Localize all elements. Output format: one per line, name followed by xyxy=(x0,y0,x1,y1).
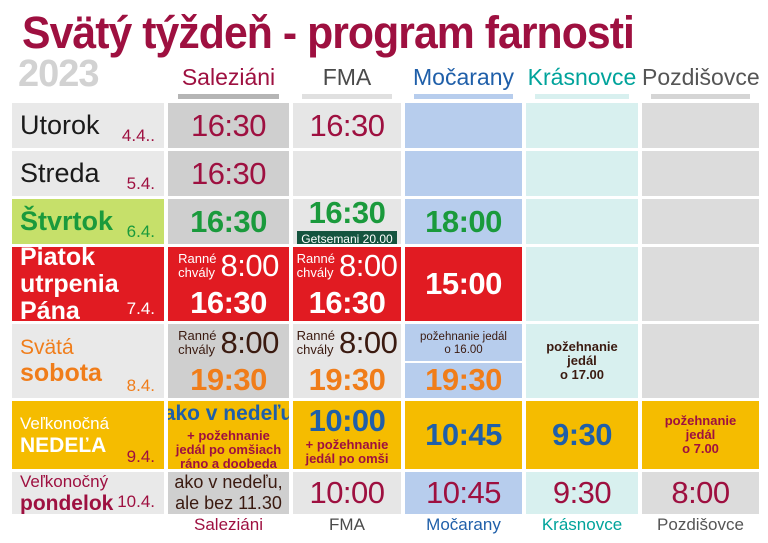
time-prefix-line: Ranné xyxy=(297,252,335,266)
cell-nedela-krasnovce: 9:30 xyxy=(526,401,638,469)
cell-sobota-pozdisovce xyxy=(642,324,759,398)
day-date: 9.4. xyxy=(127,448,155,465)
column-header-mocarany: Močarany xyxy=(405,64,522,94)
cell-stvrtok-saleziani: 16:30 xyxy=(168,199,289,244)
time-prefix-line: Ranné xyxy=(178,329,216,343)
time-secondary: 19:30 xyxy=(425,363,502,397)
note-line: ráno a doobeda xyxy=(180,457,277,469)
cell-pondelok-pozdisovce: 8:00 xyxy=(642,472,759,514)
time-prefix-label: Rannéchvály xyxy=(178,329,216,356)
day-label-cell-utorok: Utorok4.4.. xyxy=(12,103,164,148)
note-line: jedál xyxy=(686,428,716,442)
note-line: ale bez 11.30 xyxy=(175,493,282,514)
cell-streda-krasnovce xyxy=(526,151,638,196)
cell-stvrtok-mocarany: 18:00 xyxy=(405,199,522,244)
cell-utorok-krasnovce xyxy=(526,103,638,148)
cell-pondelok-krasnovce: 9:30 xyxy=(526,472,638,514)
note-line: požehnanie xyxy=(546,340,618,354)
day-name-line: utrpenia xyxy=(20,271,156,298)
column-footer-mocarany: Močarany xyxy=(405,514,522,538)
column-header-label: Krásnovce xyxy=(528,64,637,90)
cell-pondelok-fma: 10:00 xyxy=(293,472,401,514)
cell-note: ako v nedeľu,ale bez 11.30 xyxy=(174,472,282,514)
column-color-swatch xyxy=(651,94,749,99)
time-primary: 8:00 xyxy=(339,326,397,360)
note-line: o 16.00 xyxy=(444,344,482,357)
time-primary: 10:00 xyxy=(309,404,386,438)
time-primary: 16:30 xyxy=(309,109,384,143)
cell-stvrtok-pozdisovce xyxy=(642,199,759,244)
time-prefix-line: chvály xyxy=(178,343,215,357)
day-label-cell-nedela: VeľkonočnáNEDEĽA9.4. xyxy=(12,401,164,469)
day-label-cell-sobota: Svätásobota8.4. xyxy=(12,324,164,398)
note-line: + požehnanie xyxy=(187,429,270,443)
cell-note: + požehnaniejedál po omšiachráno a doobe… xyxy=(176,429,281,469)
time-primary: 16:30 xyxy=(190,205,267,239)
column-footer-saleziani: Saleziáni xyxy=(168,514,289,538)
cell-utorok-mocarany xyxy=(405,103,522,148)
time-primary-line: Rannéchvály8:00 xyxy=(293,326,401,360)
note-line: jedál xyxy=(567,354,597,368)
day-label-cell-streda: Streda5.4. xyxy=(12,151,164,196)
time-secondary: 16:30 xyxy=(190,286,267,320)
time-secondary: 19:30 xyxy=(190,363,267,397)
time-prefix-line: Ranné xyxy=(178,252,216,266)
column-header-saleziani: Saleziáni xyxy=(168,64,289,94)
time-primary: 8:00 xyxy=(671,476,729,510)
time-primary: 18:00 xyxy=(425,205,502,239)
cell-piatok-fma: Rannéchvály8:0016:30 xyxy=(293,247,401,321)
time-primary: 16:30 xyxy=(309,199,386,230)
day-name-line: Veľkonočný xyxy=(20,472,156,492)
cell-streda-fma xyxy=(293,151,401,196)
cell-nedela-fma: 10:00+ požehnaniejedál po omši xyxy=(293,401,401,469)
column-color-swatch xyxy=(535,94,629,99)
column-header-pozdisovce: Pozdišovce xyxy=(642,64,759,94)
time-primary-line: Rannéchvály8:00 xyxy=(168,326,289,360)
cell-piatok-pozdisovce xyxy=(642,247,759,321)
day-label-cell-pondelok: Veľkonočnýpondelok10.4. xyxy=(12,472,164,514)
column-header-label: Močarany xyxy=(413,64,514,90)
time-prefix-label: Rannéchvály xyxy=(297,252,335,279)
time-prefix-line: chvály xyxy=(297,343,334,357)
note-line: požehnanie xyxy=(665,414,737,428)
cell-streda-pozdisovce xyxy=(642,151,759,196)
time-primary: 10:45 xyxy=(425,418,502,452)
cell-stvrtok-fma: 16:30Getsemani 20.00 xyxy=(293,199,401,244)
time-primary: 10:00 xyxy=(309,476,384,510)
column-footer-fma: FMA xyxy=(293,514,401,538)
cell-note-block: požehnanie jedálo 16.00 xyxy=(405,324,522,361)
time-secondary: 19:30 xyxy=(309,363,386,397)
time-prefix-line: chvály xyxy=(178,266,215,280)
day-label-cell-piatok: PiatokutrpeniaPána7.4. xyxy=(12,247,164,321)
column-header-label: Pozdišovce xyxy=(642,64,760,90)
cell-piatok-mocarany: 15:00 xyxy=(405,247,522,321)
page-title: Svätý týždeň - program farnosti xyxy=(22,8,634,58)
note-line: o 17.00 xyxy=(560,368,604,382)
cell-note: požehnaniejedálo 7.00 xyxy=(665,414,737,456)
time-primary: 8:00 xyxy=(220,326,278,360)
time-prefix-line: chvály xyxy=(297,266,334,280)
column-footer-pozdisovce: Pozdišovce xyxy=(642,514,759,538)
day-date: 5.4. xyxy=(127,175,155,192)
cell-nedela-mocarany: 10:45 xyxy=(405,401,522,469)
cell-sobota-fma: Rannéchvály8:0019:30 xyxy=(293,324,401,398)
time-primary: ako v nedeľu xyxy=(168,401,289,429)
cell-sobota-saleziani: Rannéchvály8:0019:30 xyxy=(168,324,289,398)
column-color-swatch xyxy=(302,94,393,99)
time-primary-line: Rannéchvály8:00 xyxy=(168,249,289,283)
cell-pondelok-saleziani: ako v nedeľu,ale bez 11.30 xyxy=(168,472,289,514)
day-name-line: Piatok xyxy=(20,247,156,271)
note-line: jedál po omšiach xyxy=(176,443,281,457)
time-primary: 16:30 xyxy=(191,109,266,143)
holy-week-schedule-poster: Svätý týždeň - program farnosti 2023 Sal… xyxy=(0,0,768,543)
note-line: + požehnanie xyxy=(306,438,389,452)
day-date: 6.4. xyxy=(127,223,155,240)
column-header-label: Saleziáni xyxy=(182,64,275,90)
note-line: o 7.00 xyxy=(682,442,719,456)
getsemani-badge: Getsemani 20.00 xyxy=(297,231,396,244)
time-prefix-label: Rannéchvály xyxy=(297,329,335,356)
time-primary: 15:00 xyxy=(425,267,502,301)
time-primary: 9:30 xyxy=(553,476,611,510)
time-primary: 9:30 xyxy=(552,418,612,452)
day-label-cell-stvrtok: Štvrtok6.4. xyxy=(12,199,164,244)
cell-sobota-mocarany: požehnanie jedálo 16.0019:30 xyxy=(405,324,522,398)
time-secondary: 16:30 xyxy=(309,286,386,320)
column-color-swatch xyxy=(414,94,512,99)
day-date: 7.4. xyxy=(127,300,155,317)
time-primary: 16:30 xyxy=(191,157,266,191)
cell-sobota-krasnovce: požehnaniejedálo 17.00 xyxy=(526,324,638,398)
cell-stvrtok-krasnovce xyxy=(526,199,638,244)
year-label: 2023 xyxy=(18,54,99,94)
cell-piatok-saleziani: Rannéchvály8:0016:30 xyxy=(168,247,289,321)
day-name-line: Veľkonočná xyxy=(20,414,156,434)
column-footer-krasnovce: Krásnovce xyxy=(526,514,638,538)
note-line: požehnanie jedál xyxy=(420,331,507,344)
column-header-krasnovce: Krásnovce xyxy=(526,64,638,94)
time-primary: 10:45 xyxy=(426,476,501,510)
time-primary: 8:00 xyxy=(339,249,397,283)
cell-nedela-saleziani: ako v nedeľu+ požehnaniejedál po omšiach… xyxy=(168,401,289,469)
note-line: ako v nedeľu, xyxy=(174,472,282,493)
column-color-swatch xyxy=(178,94,280,99)
time-primary: 8:00 xyxy=(220,249,278,283)
time-prefix-line: Ranné xyxy=(297,329,335,343)
column-header-fma: FMA xyxy=(293,64,401,94)
cell-streda-saleziani: 16:30 xyxy=(168,151,289,196)
day-date: 10.4. xyxy=(117,493,155,510)
cell-time-block: 19:30 xyxy=(405,363,522,398)
day-date: 4.4.. xyxy=(122,127,155,144)
column-header-label: FMA xyxy=(323,64,372,90)
cell-utorok-pozdisovce xyxy=(642,103,759,148)
cell-utorok-fma: 16:30 xyxy=(293,103,401,148)
cell-nedela-pozdisovce: požehnaniejedálo 7.00 xyxy=(642,401,759,469)
cell-note: + požehnaniejedál po omši xyxy=(305,438,388,466)
day-date: 8.4. xyxy=(127,377,155,394)
cell-utorok-saleziani: 16:30 xyxy=(168,103,289,148)
cell-streda-mocarany xyxy=(405,151,522,196)
time-prefix-label: Rannéchvály xyxy=(178,252,216,279)
cell-piatok-krasnovce xyxy=(526,247,638,321)
day-name-line: Svätá xyxy=(20,336,156,360)
time-primary-line: Rannéchvály8:00 xyxy=(293,249,401,283)
note-line: jedál po omši xyxy=(305,452,388,466)
cell-pondelok-mocarany: 10:45 xyxy=(405,472,522,514)
cell-note: požehnaniejedálo 17.00 xyxy=(546,340,618,382)
